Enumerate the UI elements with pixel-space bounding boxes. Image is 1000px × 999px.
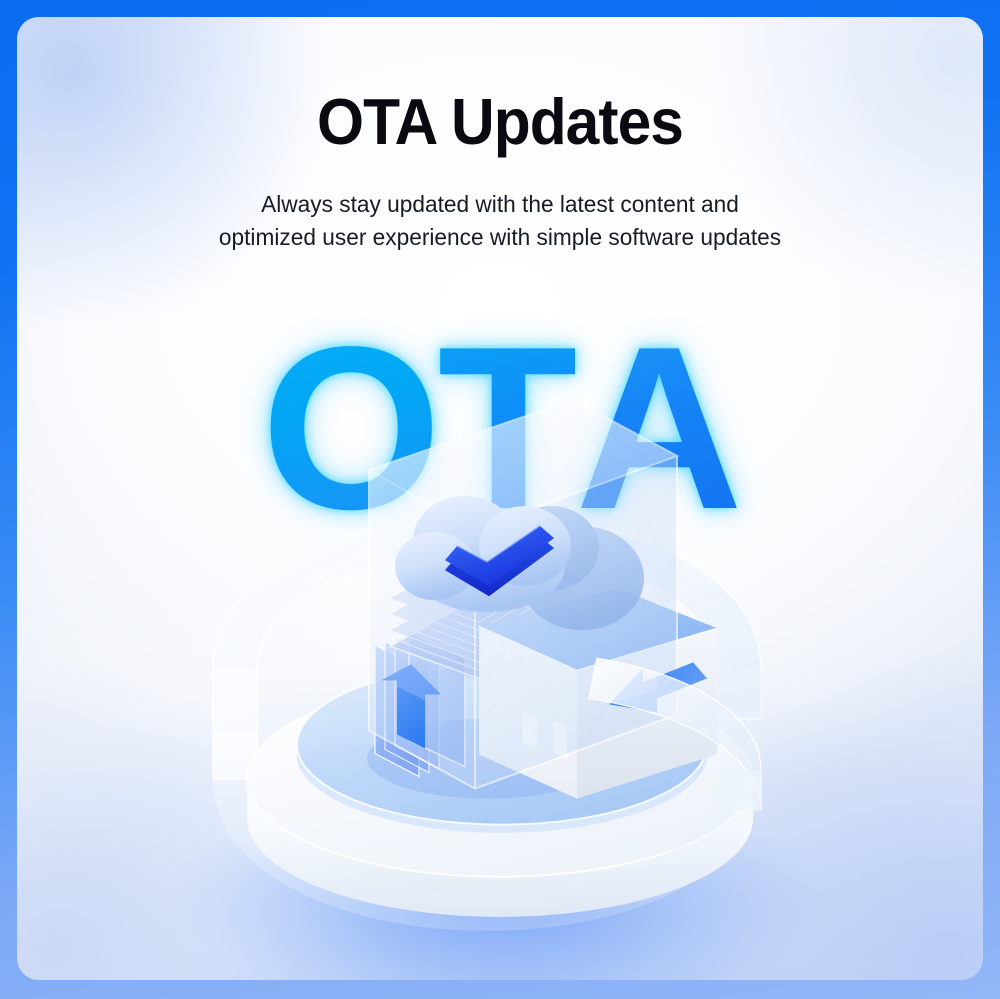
page-title: OTA Updates [51,89,949,154]
content-panel: OTA Updates Always stay updated with the… [17,17,983,980]
page-subtitle: Always stay updated with the latest cont… [34,188,966,255]
heading-block: OTA Updates Always stay updated with the… [17,17,983,255]
outer-blue-frame: OTA Updates Always stay updated with the… [0,0,1000,999]
subtitle-line-1: Always stay updated with the latest cont… [34,188,966,221]
subtitle-line-2: optimized user experience with simple so… [34,221,966,254]
